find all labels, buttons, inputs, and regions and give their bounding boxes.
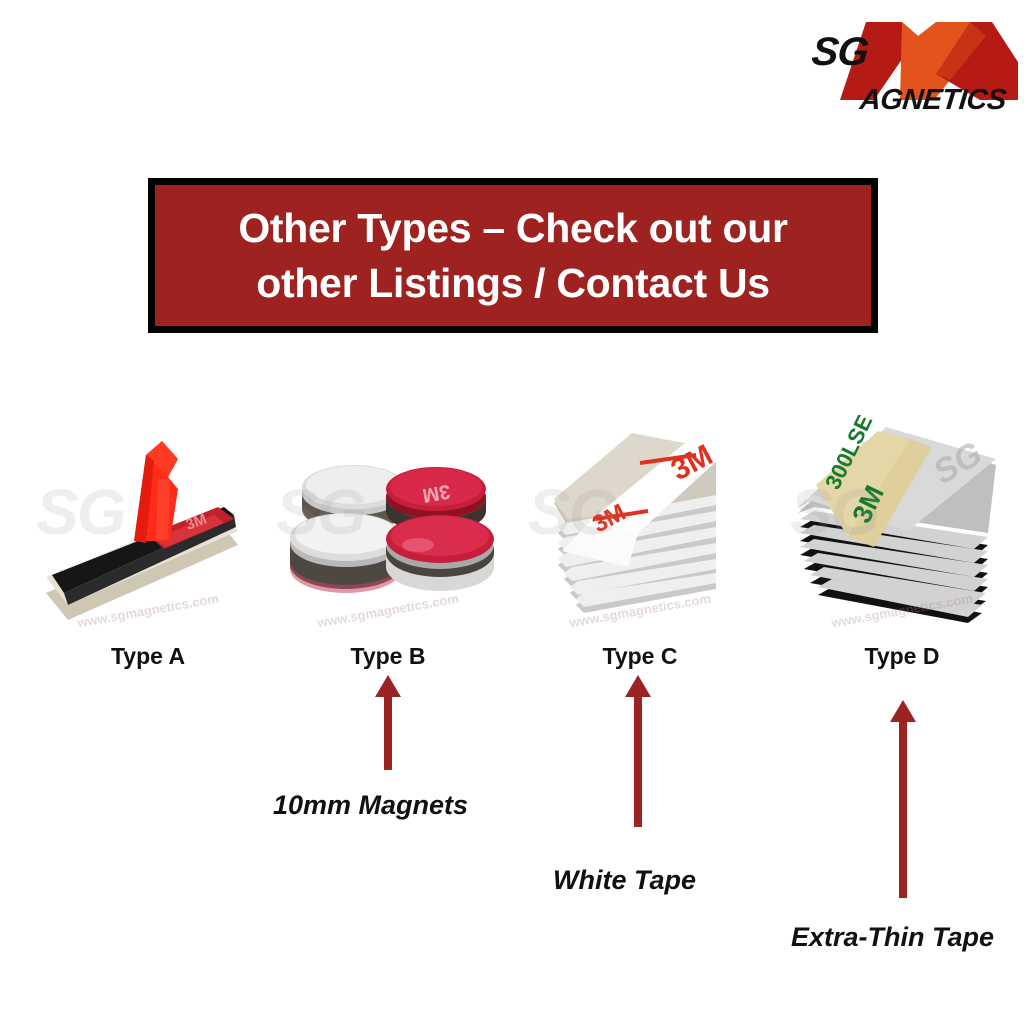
annotation-extra-thin-tape: Extra-Thin Tape (791, 922, 994, 953)
callout-arrow-white-tape (625, 675, 651, 827)
product-photo-type-b: 3M SG www.sgmagnetics.com (268, 415, 508, 640)
type-d-illustration: 3M 300LSE SG (782, 415, 1022, 640)
headline-line-2: other Listings / Contact Us (256, 256, 770, 310)
product-card-type-c: 3M 3M SG www.sgmagnetics.com Type C (520, 415, 760, 675)
arrow-shaft (384, 693, 392, 770)
product-label-type-a: Type A (28, 643, 268, 670)
type-c-illustration: 3M 3M (520, 415, 760, 640)
product-photo-type-d: 3M 300LSE SG SG www.sgmagnetics.com (782, 415, 1022, 640)
annotation-10mm-magnets: 10mm Magnets (273, 790, 468, 821)
product-label-type-c: Type C (520, 643, 760, 670)
product-infographic-page: SG AGNETICS Other Types – Check out our … (0, 0, 1024, 1024)
product-card-type-b: 3M SG www.sgmagnetics.com Type B (268, 415, 508, 675)
arrow-shaft (899, 718, 907, 898)
product-card-type-d: 3M 300LSE SG SG www.sgmagnetics.com Type… (782, 415, 1022, 675)
callout-arrow-extra-thin-tape (890, 700, 916, 898)
arrow-shaft (634, 693, 642, 827)
headline-line-1: Other Types – Check out our (238, 201, 787, 255)
logo-agnetics-text: AGNETICS (858, 84, 1007, 117)
callout-arrow-10mm-magnets (375, 675, 401, 770)
product-label-type-d: Type D (782, 643, 1022, 670)
headline-banner: Other Types – Check out our other Listin… (148, 178, 878, 333)
type-a-illustration: 3M (28, 415, 268, 640)
annotation-white-tape: White Tape (553, 865, 696, 896)
type-b-illustration: 3M (268, 415, 508, 640)
sg-magnetics-logo: SG AGNETICS (812, 18, 1020, 118)
product-photo-type-c: 3M 3M SG www.sgmagnetics.com (520, 415, 760, 640)
product-photo-type-a: 3M SG www.sgmagnetics.com (28, 415, 268, 640)
product-label-type-b: Type B (268, 643, 508, 670)
logo-sg-text: SG (810, 30, 871, 75)
product-card-type-a: 3M SG www.sgmagnetics.com Type A (28, 415, 268, 675)
headline-banner-inner: Other Types – Check out our other Listin… (155, 185, 871, 326)
